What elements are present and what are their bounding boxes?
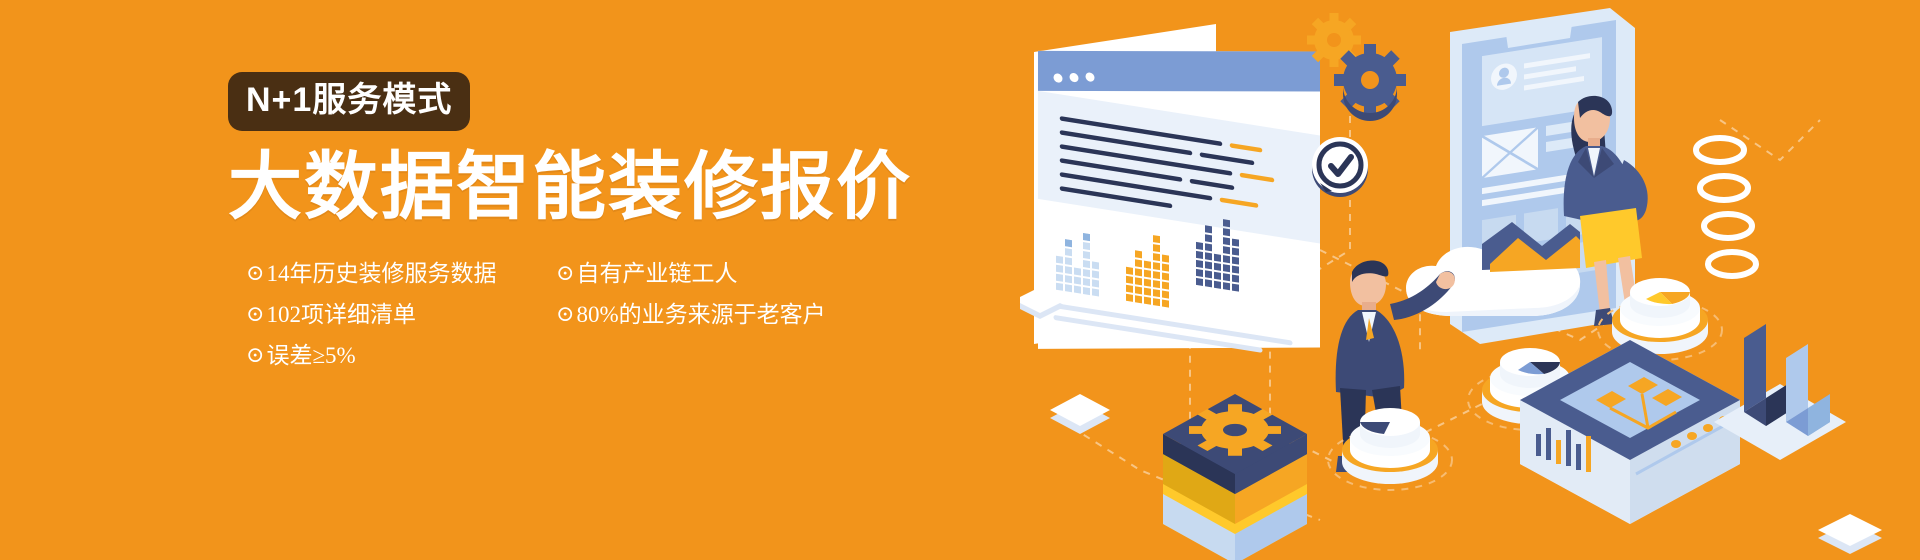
gear-icon [1189,404,1281,456]
service-model-badge: N+1服务模式 [228,72,470,131]
list-item: ⊙ 自有产业链工人 [556,253,866,294]
list-item-label: 102项详细清单 [266,303,416,326]
list-item: ⊙ 102项详细清单 [246,294,556,335]
list-item: ⊙ 误差≥5% [246,335,556,376]
circled-dot-icon: ⊙ [556,262,574,284]
copy-block: N+1服务模式 大数据智能装修报价 ⊙ 14年历史装修服务数据 ⊙ 自有产业链工… [228,72,988,376]
floating-tile-2 [1818,514,1882,554]
circled-dot-icon: ⊙ [246,303,264,325]
list-item: ⊙ 14年历史装修服务数据 [246,253,556,294]
floating-tile-1 [1050,394,1110,434]
list-item-label: 误差≥5% [266,344,355,367]
circled-dot-icon: ⊙ [246,262,264,284]
promotional-banner: N+1服务模式 大数据智能装修报价 ⊙ 14年历史装修服务数据 ⊙ 自有产业链工… [0,0,1920,560]
page-title: 大数据智能装修报价 [228,147,988,227]
list-item-label: 80%的业务来源于老客户 [576,303,825,326]
checkmark-badge [1312,137,1368,197]
circled-dot-icon: ⊙ [556,303,574,325]
list-item: ⊙ 80%的业务来源于老客户 [556,294,866,335]
circled-dot-icon: ⊙ [246,344,264,366]
list-item-label: 自有产业链工人 [576,262,737,285]
feature-bullet-list: ⊙ 14年历史装修服务数据 ⊙ 自有产业链工人 ⊙ 102项详细清单 ⊙ 80%… [246,253,866,376]
list-item-label: 14年历史装修服务数据 [266,262,496,285]
browser-window-dashboard [1034,7,1350,394]
isometric-big-data-illustration [1020,0,1920,560]
ring-stack [1696,138,1756,276]
gear-navy-large [1334,44,1406,121]
gear-hexagon-stack [1163,394,1307,560]
